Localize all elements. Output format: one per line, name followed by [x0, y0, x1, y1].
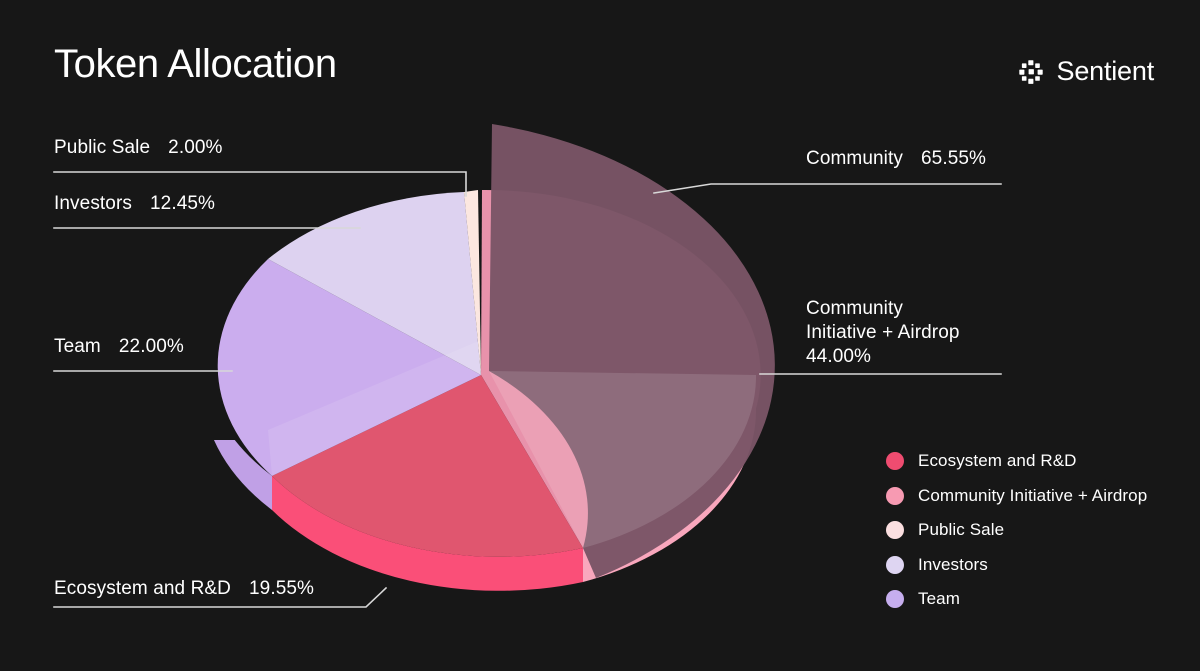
legend-item-investors: Investors [886, 556, 1147, 574]
legend-label-public-sale: Public Sale [918, 520, 1004, 540]
callout-team: Team22.00% [54, 336, 184, 358]
callout-investors: Investors12.45% [54, 193, 215, 215]
callout-community: Community65.55% [806, 148, 986, 170]
token-allocation-infographic: Token Allocation Sentient [0, 0, 1200, 671]
legend-swatch-investors [886, 556, 904, 574]
legend-swatch-ecosystem [886, 452, 904, 470]
callout-investors-label: Investors [54, 193, 132, 214]
legend-swatch-team [886, 590, 904, 608]
legend-item-ecosystem: Ecosystem and R&D [886, 452, 1147, 470]
legend-item-community-initiative: Community Initiative + Airdrop [886, 487, 1147, 505]
callout-community-initiative-line2: Initiative + Airdrop [806, 321, 1021, 345]
callout-ecosystem-value: 19.55% [249, 578, 314, 599]
callout-community-initiative-line1: Community [806, 297, 1021, 321]
legend-label-ecosystem: Ecosystem and R&D [918, 451, 1077, 471]
legend-label-investors: Investors [918, 555, 988, 575]
callout-team-value: 22.00% [119, 336, 184, 357]
callout-ecosystem-label: Ecosystem and R&D [54, 578, 231, 599]
callout-community-initiative: Community Initiative + Airdrop 44.00% [806, 297, 1021, 369]
callout-community-initiative-value: 44.00% [806, 345, 1021, 369]
leader-line-community [654, 184, 1001, 193]
legend-label-community-initiative: Community Initiative + Airdrop [918, 486, 1147, 506]
callout-team-label: Team [54, 336, 101, 357]
callout-public-sale-label: Public Sale [54, 137, 150, 158]
legend-swatch-public-sale [886, 521, 904, 539]
legend-item-team: Team [886, 590, 1147, 608]
callout-ecosystem: Ecosystem and R&D19.55% [54, 578, 314, 600]
legend-item-public-sale: Public Sale [886, 521, 1147, 539]
callout-public-sale: Public Sale2.00% [54, 137, 223, 159]
callout-community-label: Community [806, 148, 903, 169]
callout-public-sale-value: 2.00% [168, 137, 222, 158]
callout-investors-value: 12.45% [150, 193, 215, 214]
legend-swatch-community-initiative [886, 487, 904, 505]
callout-community-value: 65.55% [921, 148, 986, 169]
legend-label-team: Team [918, 589, 960, 609]
legend: Ecosystem and R&D Community Initiative +… [886, 452, 1147, 608]
